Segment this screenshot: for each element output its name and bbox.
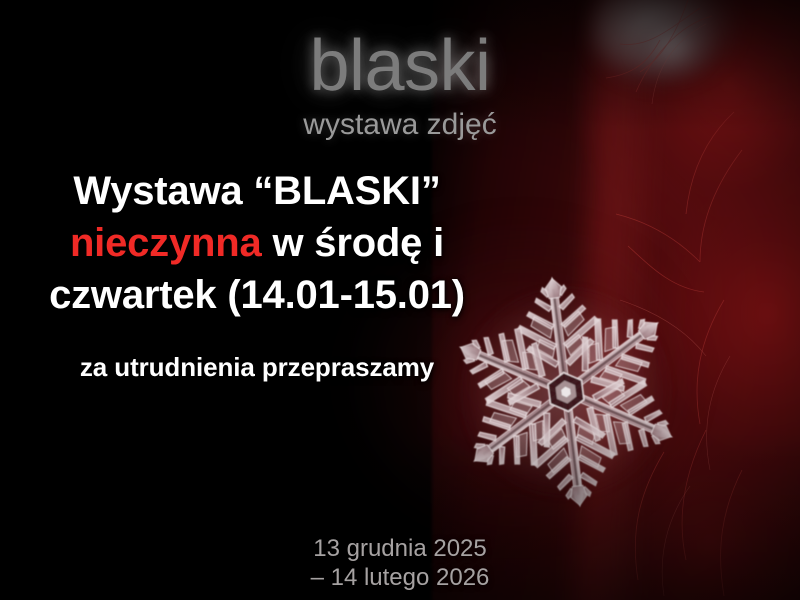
notice-line-2: nieczynna w środę i (22, 217, 492, 269)
poster-content: blaski wystawa zdjęć Wystawa “BLASKI” ni… (0, 0, 800, 600)
date-end: – 14 lutego 2026 (0, 564, 800, 592)
poster-canvas: blaski wystawa zdjęć Wystawa “BLASKI” ni… (0, 0, 800, 600)
notice-line-2-rest: w środę i (262, 221, 445, 265)
date-start: 13 grudnia 2025 (0, 535, 800, 563)
brand-title: blaski (0, 30, 800, 102)
notice-accent-word: nieczynna (70, 221, 262, 265)
apology-text: za utrudnienia przepraszamy (22, 352, 492, 383)
notice-line-3: czwartek (14.01-15.01) (22, 269, 492, 321)
brand-block: blaski wystawa zdjęć (0, 30, 800, 141)
notice-line-1: Wystawa “BLASKI” (22, 165, 492, 217)
exhibition-dates: 13 grudnia 2025 – 14 lutego 2026 (0, 535, 800, 592)
closure-notice: Wystawa “BLASKI” nieczynna w środę i czw… (22, 165, 492, 321)
brand-subtitle: wystawa zdjęć (0, 108, 800, 141)
